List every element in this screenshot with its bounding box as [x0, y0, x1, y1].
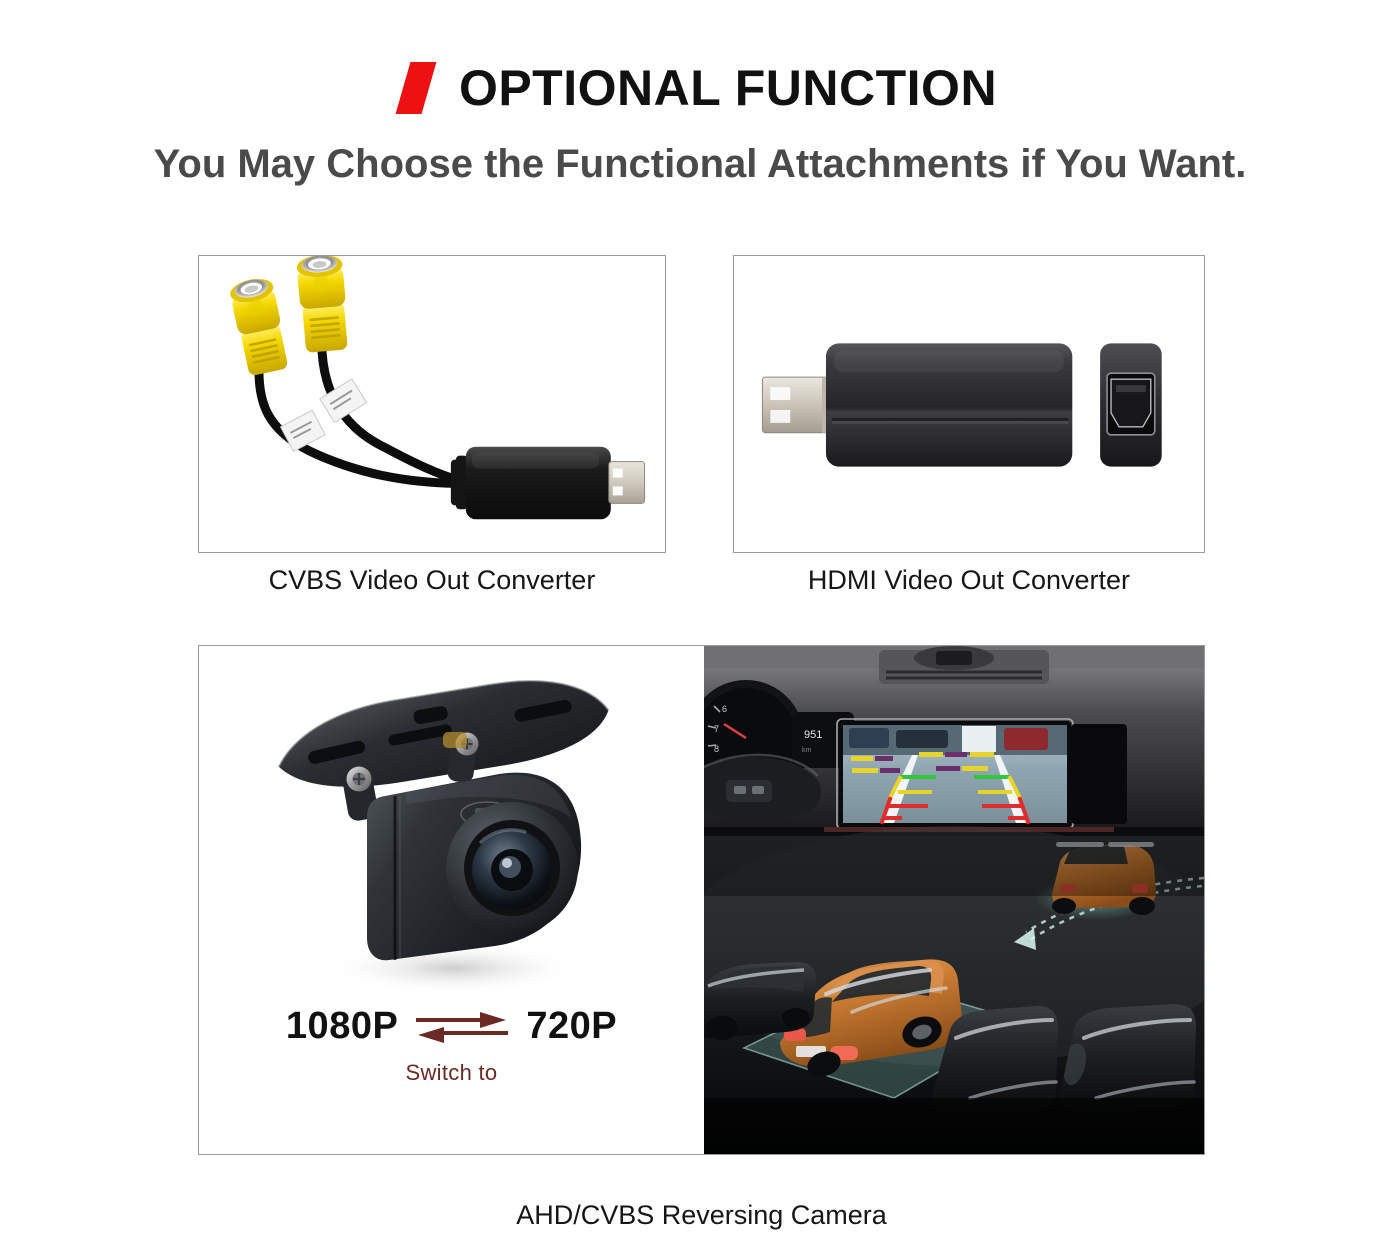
- panel-cvbs-converter[interactable]: [198, 255, 666, 553]
- camera-product-side: 1080P 720P Switch to: [199, 646, 704, 1154]
- svg-text:8: 8: [714, 744, 719, 754]
- resolution-switch-row: 1080P 720P: [199, 1006, 704, 1046]
- page-title: OPTIONAL FUNCTION: [459, 63, 997, 113]
- red-slash-icon: [395, 62, 436, 114]
- caption-hdmi-converter: HDMI Video Out Converter: [733, 565, 1205, 596]
- svg-text:951: 951: [804, 729, 822, 741]
- svg-text:km: km: [802, 747, 812, 754]
- caption-reversing-camera: AHD/CVBS Reversing Camera: [198, 1200, 1205, 1231]
- page-subtitle: You May Choose the Functional Attachment…: [0, 142, 1400, 186]
- camera-scene-side: 6 7 8 951 km: [704, 646, 1205, 1154]
- caption-cvbs-converter: CVBS Video Out Converter: [198, 565, 666, 596]
- swap-arrows-icon: [414, 1006, 510, 1046]
- resolution-to-label: 720P: [526, 1007, 617, 1045]
- reverse-parking-scene-image: 6 7 8 951 km: [704, 646, 1205, 1154]
- svg-text:6: 6: [722, 704, 727, 714]
- resolution-switch: 1080P 720P Switch to: [199, 1006, 704, 1086]
- reversing-camera-image: [199, 646, 704, 1026]
- svg-text:7: 7: [714, 724, 719, 734]
- resolution-switch-sublabel: Switch to: [199, 1060, 704, 1086]
- resolution-from-label: 1080P: [286, 1007, 398, 1045]
- title-row: OPTIONAL FUNCTION: [0, 62, 1400, 114]
- cvbs-converter-image: [199, 256, 665, 552]
- panel-hdmi-converter[interactable]: [733, 255, 1205, 553]
- hdmi-converter-image: [734, 256, 1204, 552]
- panel-reversing-camera[interactable]: 1080P 720P Switch to: [198, 645, 1205, 1155]
